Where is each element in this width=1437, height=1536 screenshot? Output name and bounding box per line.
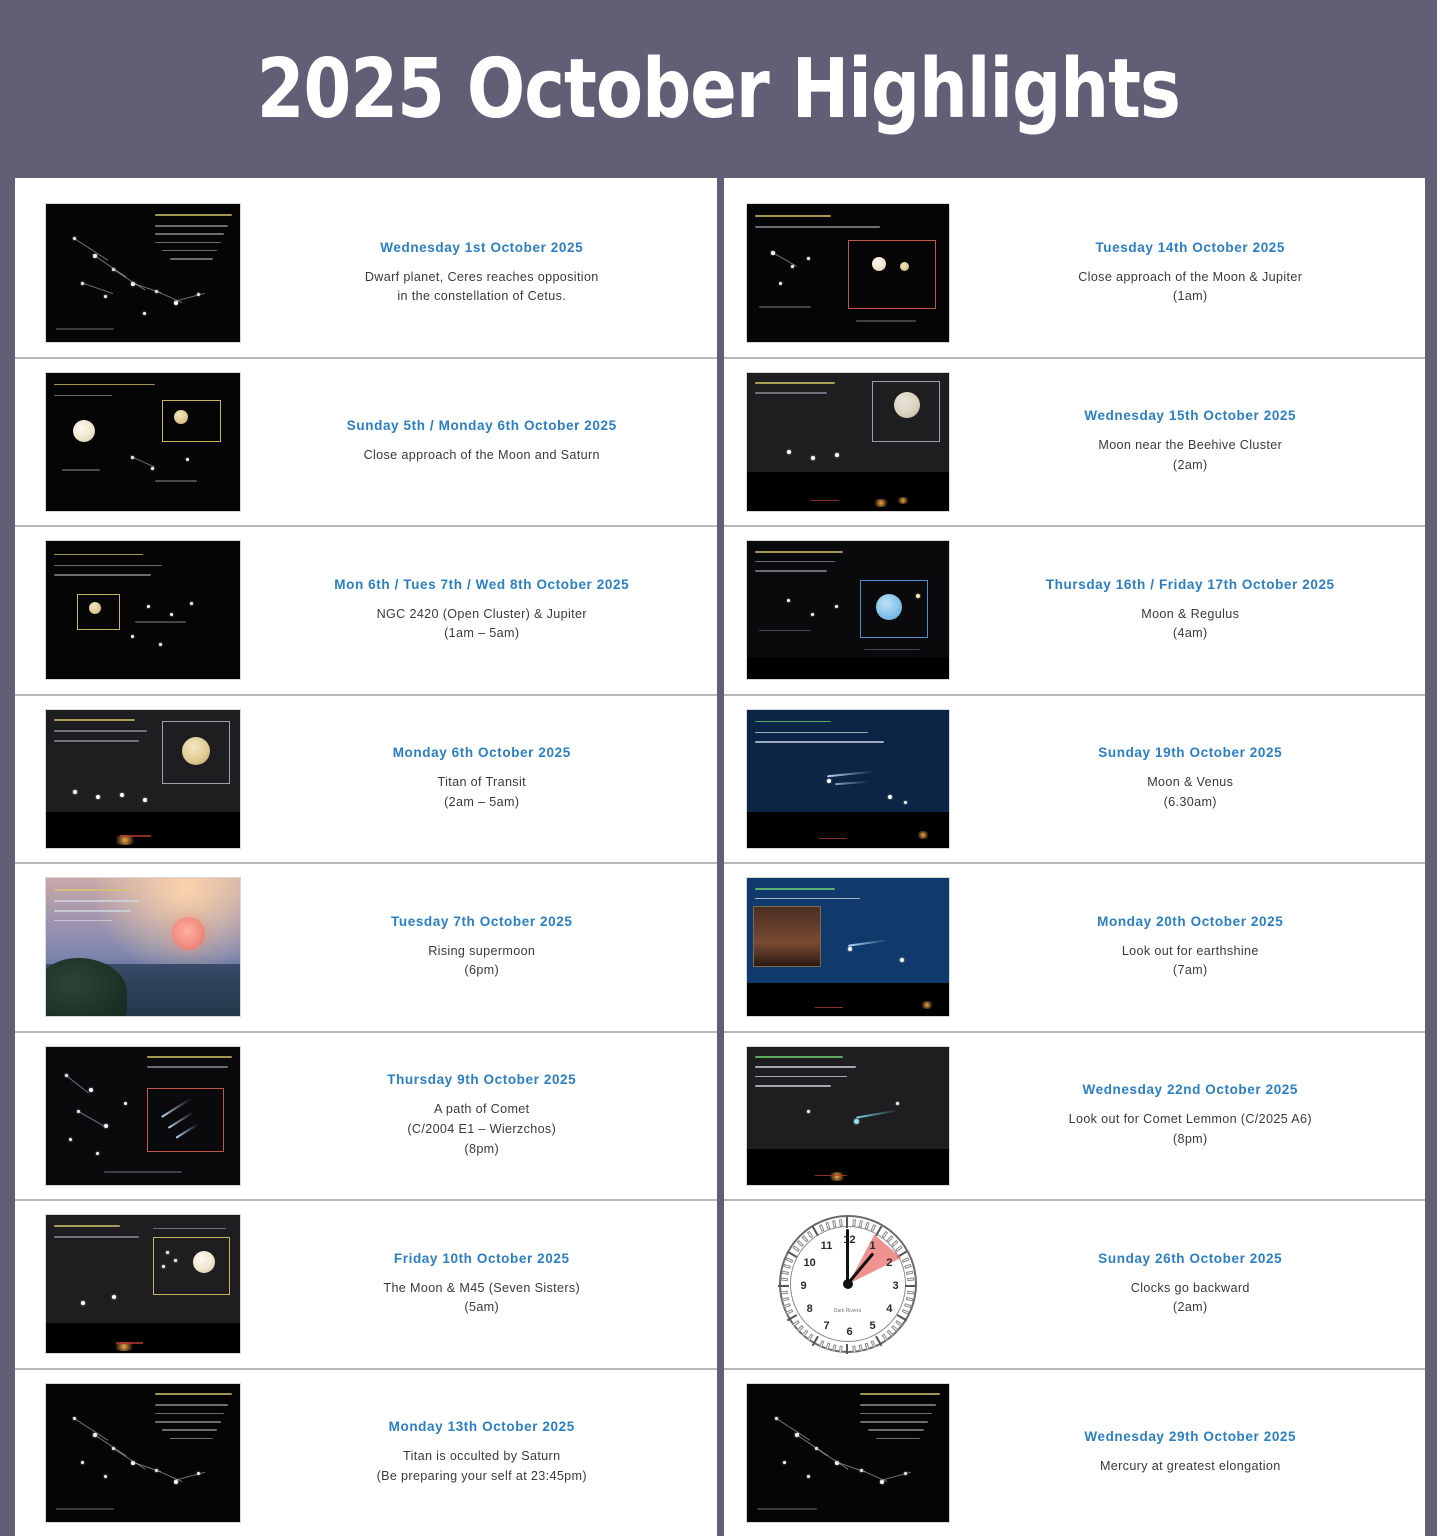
event-text-cell: Wednesday 29th October 2025 Mercury at g… xyxy=(956,1374,1426,1533)
event-row[interactable]: Wednesday 15th October 2025 Moon near th… xyxy=(724,357,1426,526)
event-description-line: NGC 2420 (Open Cluster) & Jupiter xyxy=(377,605,587,625)
clock-minute-tick xyxy=(825,1343,830,1351)
event-thumbnail-cell xyxy=(724,1037,956,1196)
event-description-line: Dwarf planet, Ceres reaches opposition xyxy=(365,268,599,288)
event-text-cell: Mon 6th / Tues 7th / Wed 8th October 202… xyxy=(247,531,717,690)
comet-lemmon-twilight-thumbnail xyxy=(746,1046,950,1186)
event-date: Monday 13th October 2025 xyxy=(389,1419,575,1434)
event-description-line: Look out for Comet Lemmon (C/2025 A6) xyxy=(1069,1110,1312,1130)
earthshine-blue-thumbnail xyxy=(746,877,950,1017)
event-date: Sunday 26th October 2025 xyxy=(1098,1251,1282,1266)
event-row[interactable]: Wednesday 1st October 2025 Dwarf planet,… xyxy=(15,190,717,357)
event-description-line: (2am – 5am) xyxy=(438,793,526,813)
comet-path-chart-thumbnail xyxy=(45,1046,241,1186)
clock-minute-tick xyxy=(882,1231,889,1238)
clock-minute-tick xyxy=(887,1235,894,1242)
event-row[interactable]: Sunday 19th October 2025 Moon & Venus (6… xyxy=(724,694,1426,863)
event-date: Wednesday 29th October 2025 xyxy=(1084,1429,1296,1444)
event-description: The Moon & M45 (Seven Sisters) (5am) xyxy=(383,1279,580,1318)
clock-numeral: 5 xyxy=(869,1320,875,1332)
moon-saturn-pair-thumbnail xyxy=(45,372,241,512)
event-text-cell: Sunday 26th October 2025 Clocks go backw… xyxy=(956,1205,1426,1364)
event-thumbnail-cell xyxy=(724,363,956,522)
event-description-line: (6pm) xyxy=(428,961,535,981)
page-title: 2025 October Highlights xyxy=(257,42,1180,137)
clock-minute-tick xyxy=(871,1340,877,1348)
event-text-cell: Thursday 9th October 2025 A path of Come… xyxy=(247,1037,717,1196)
titan-transit-skyline-thumbnail xyxy=(45,709,241,849)
event-row[interactable]: Monday 13th October 2025 Titan is occult… xyxy=(15,1368,717,1536)
clock-minute-tick xyxy=(839,1346,843,1353)
event-row[interactable]: Wednesday 22nd October 2025 Look out for… xyxy=(724,1031,1426,1200)
event-description-line: Mercury at greatest elongation xyxy=(1100,1457,1281,1477)
clock-minute-tick xyxy=(865,1222,870,1230)
moon-jupiter-chart-thumbnail xyxy=(746,203,950,343)
clock-minute-tick xyxy=(895,1246,902,1253)
event-date: Wednesday 22nd October 2025 xyxy=(1082,1082,1298,1097)
event-description: Moon & Regulus (4am) xyxy=(1141,605,1239,644)
event-thumbnail-cell: 121234567891011 Dark Riviera xyxy=(724,1205,956,1364)
clock-minute-tick xyxy=(802,1330,809,1337)
clock-minute-tick xyxy=(807,1334,814,1341)
beehive-skyline-thumbnail xyxy=(746,372,950,512)
ngc2420-jupiter-thumbnail xyxy=(45,540,241,680)
event-description-line: (5am) xyxy=(383,1298,580,1318)
event-description-line: (1am) xyxy=(1078,287,1302,307)
clock-minute-tick xyxy=(832,1345,836,1352)
event-row[interactable]: Tuesday 14th October 2025 Close approach… xyxy=(724,190,1426,357)
event-date: Sunday 5th / Monday 6th October 2025 xyxy=(347,418,617,433)
event-description-line: Moon & Venus xyxy=(1147,773,1233,793)
moon-m45-skyline-thumbnail xyxy=(45,1214,241,1354)
event-text-cell: Sunday 19th October 2025 Moon & Venus (6… xyxy=(956,700,1426,859)
event-description-line: in the constellation of Cetus. xyxy=(365,287,599,307)
star-chart-cetus-thumbnail xyxy=(45,203,241,343)
event-thumbnail-cell xyxy=(15,1205,247,1364)
event-description: Close approach of the Moon & Jupiter (1a… xyxy=(1078,268,1302,307)
event-description-line: (2am) xyxy=(1131,1298,1250,1318)
event-description-line: A path of Comet xyxy=(407,1100,556,1120)
clock-minute-tick xyxy=(895,1320,902,1327)
event-description: Rising supermoon (6pm) xyxy=(428,942,535,981)
clock-minute-tick xyxy=(839,1219,843,1226)
clock-minute-tick xyxy=(891,1240,898,1247)
clock-minute-tick xyxy=(781,1278,788,1282)
clock-minute-tick xyxy=(781,1291,788,1295)
event-row[interactable]: Sunday 5th / Monday 6th October 2025 Clo… xyxy=(15,357,717,526)
clock-minute-tick xyxy=(907,1291,914,1295)
clock-numeral: 8 xyxy=(807,1303,813,1315)
event-description-line: Look out for earthshine xyxy=(1122,942,1259,962)
event-date: Tuesday 7th October 2025 xyxy=(391,914,572,929)
supermoon-disc xyxy=(172,917,205,950)
clock-minute-tick xyxy=(859,1345,863,1352)
event-date: Mon 6th / Tues 7th / Wed 8th October 202… xyxy=(334,577,629,592)
event-row[interactable]: Monday 6th October 2025 Titan of Transit… xyxy=(15,694,717,863)
event-description: Mercury at greatest elongation xyxy=(1100,1457,1281,1477)
event-description: NGC 2420 (Open Cluster) & Jupiter (1am –… xyxy=(377,605,587,644)
clock-minute-tick xyxy=(891,1325,898,1332)
events-columns: Wednesday 1st October 2025 Dwarf planet,… xyxy=(0,178,1437,1536)
event-thumbnail-cell xyxy=(15,1374,247,1533)
event-row[interactable]: Tuesday 7th October 2025 Rising supermoo… xyxy=(15,862,717,1031)
event-description-line: Titan of Transit xyxy=(438,773,526,793)
clock-numeral: 9 xyxy=(800,1280,806,1292)
event-row[interactable]: Friday 10th October 2025 The Moon & M45 … xyxy=(15,1199,717,1368)
event-description-line: Moon near the Beehive Cluster xyxy=(1098,436,1282,456)
clock-minute-tick xyxy=(859,1220,863,1227)
event-description-line: (8pm) xyxy=(1069,1130,1312,1150)
event-description-line: Titan is occulted by Saturn xyxy=(377,1447,587,1467)
clock-hour-tick xyxy=(905,1285,916,1287)
event-description-line: Close approach of the Moon & Jupiter xyxy=(1078,268,1302,288)
event-date: Monday 6th October 2025 xyxy=(393,745,571,760)
clock-minute-tick xyxy=(865,1343,870,1351)
event-thumbnail-cell xyxy=(15,868,247,1027)
event-text-cell: Thursday 16th / Friday 17th October 2025… xyxy=(956,531,1426,690)
analogue-clock-thumbnail: 121234567891011 Dark Riviera xyxy=(746,1214,950,1354)
left-column: Wednesday 1st October 2025 Dwarf planet,… xyxy=(15,178,717,1536)
event-date: Thursday 9th October 2025 xyxy=(387,1072,576,1087)
event-text-cell: Monday 13th October 2025 Titan is occult… xyxy=(247,1374,717,1533)
clock-hour-tick xyxy=(875,1336,882,1347)
clock-hour-tick xyxy=(812,1336,819,1347)
event-text-cell: Monday 20th October 2025 Look out for ea… xyxy=(956,868,1426,1027)
event-description-line: Clocks go backward xyxy=(1131,1279,1250,1299)
clock-numeral: 4 xyxy=(886,1303,892,1315)
clock-minute-tick xyxy=(792,1320,799,1327)
clock-minute-tick xyxy=(819,1340,825,1348)
event-thumbnail-cell xyxy=(724,1374,956,1533)
event-text-cell: Friday 10th October 2025 The Moon & M45 … xyxy=(247,1205,717,1364)
clock-minute-hand xyxy=(846,1229,849,1284)
event-date: Monday 20th October 2025 xyxy=(1097,914,1283,929)
event-description-line: (Be preparing your self at 23:45pm) xyxy=(377,1467,587,1487)
event-date: Wednesday 1st October 2025 xyxy=(380,240,583,255)
clock-minute-tick xyxy=(906,1271,913,1275)
event-description-line: Rising supermoon xyxy=(428,942,535,962)
clock-minute-tick xyxy=(786,1309,794,1315)
clock-brand-label: Dark Riviera xyxy=(834,1308,862,1314)
clock-minute-tick xyxy=(852,1346,856,1353)
poster-root: 2025 October Highlights xyxy=(0,0,1437,1536)
event-description-line: The Moon & M45 (Seven Sisters) xyxy=(383,1279,580,1299)
clock-minute-tick xyxy=(902,1258,910,1264)
event-description-line: (6.30am) xyxy=(1147,793,1233,813)
right-column: Tuesday 14th October 2025 Close approach… xyxy=(724,178,1426,1536)
event-description: Dwarf planet, Ceres reaches opposition i… xyxy=(365,268,599,307)
event-thumbnail-cell xyxy=(15,531,247,690)
clock-hour-tick xyxy=(846,1217,848,1228)
poster-title-bar: 2025 October Highlights xyxy=(0,0,1437,178)
event-thumbnail-cell xyxy=(724,700,956,859)
event-description: Clocks go backward (2am) xyxy=(1131,1279,1250,1318)
event-description-line: (C/2004 E1 – Wierzchos) xyxy=(407,1120,556,1140)
event-thumbnail-cell xyxy=(724,868,956,1027)
clock-minute-tick xyxy=(825,1222,830,1230)
event-description: Moon near the Beehive Cluster (2am) xyxy=(1098,436,1282,475)
moon-regulus-inset-thumbnail xyxy=(746,540,950,680)
clock-minute-tick xyxy=(819,1224,825,1232)
event-date: Sunday 19th October 2025 xyxy=(1098,745,1282,760)
event-row[interactable]: Monday 20th October 2025 Look out for ea… xyxy=(724,862,1426,1031)
clock-numeral: 2 xyxy=(886,1257,892,1269)
event-description-line: (2am) xyxy=(1098,456,1282,476)
event-text-cell: Wednesday 15th October 2025 Moon near th… xyxy=(956,363,1426,522)
clock-minute-tick xyxy=(797,1325,804,1332)
event-description: Titan of Transit (2am – 5am) xyxy=(438,773,526,812)
clock-minute-tick xyxy=(906,1297,913,1301)
event-description: Close approach of the Moon and Saturn xyxy=(364,446,600,466)
event-date: Tuesday 14th October 2025 xyxy=(1095,240,1285,255)
event-description-line: (4am) xyxy=(1141,624,1239,644)
event-thumbnail-cell xyxy=(15,1037,247,1196)
star-chart-cetus-thumbnail xyxy=(45,1383,241,1523)
event-text-cell: Tuesday 14th October 2025 Close approach… xyxy=(956,194,1426,353)
event-thumbnail-cell xyxy=(724,531,956,690)
clock-numeral: 7 xyxy=(823,1320,829,1332)
event-description-line: (1am – 5am) xyxy=(377,624,587,644)
clock-numeral: 1 xyxy=(869,1240,875,1252)
event-description-line: (7am) xyxy=(1122,961,1259,981)
event-thumbnail-cell xyxy=(15,363,247,522)
clock-minute-tick xyxy=(871,1224,877,1232)
clock-minute-tick xyxy=(887,1330,894,1337)
event-text-cell: Tuesday 7th October 2025 Rising supermoo… xyxy=(247,868,717,1027)
clock-minute-tick xyxy=(902,1309,910,1315)
event-row[interactable]: 121234567891011 Dark Riviera Sunday 26th… xyxy=(724,1199,1426,1368)
event-text-cell: Wednesday 1st October 2025 Dwarf planet,… xyxy=(247,194,717,353)
event-text-cell: Sunday 5th / Monday 6th October 2025 Clo… xyxy=(247,363,717,522)
event-description-line: Close approach of the Moon and Saturn xyxy=(364,446,600,466)
event-description: Look out for Comet Lemmon (C/2025 A6) (8… xyxy=(1069,1110,1312,1149)
event-thumbnail-cell xyxy=(15,194,247,353)
event-description: Titan is occulted by Saturn (Be preparin… xyxy=(377,1447,587,1486)
clock-numeral: 10 xyxy=(804,1257,816,1269)
supermoon-photo-thumbnail xyxy=(45,877,241,1017)
event-row[interactable]: Mon 6th / Tues 7th / Wed 8th October 202… xyxy=(15,525,717,694)
clock-minute-tick xyxy=(832,1220,836,1227)
event-description: Moon & Venus (6.30am) xyxy=(1147,773,1233,812)
event-description-line: Moon & Regulus xyxy=(1141,605,1239,625)
event-text-cell: Wednesday 22nd October 2025 Look out for… xyxy=(956,1037,1426,1196)
clock-minute-tick xyxy=(783,1303,791,1308)
clock-minute-tick xyxy=(907,1278,914,1282)
event-row[interactable]: Wednesday 29th October 2025 Mercury at g… xyxy=(724,1368,1426,1536)
clock-hour-tick xyxy=(778,1285,789,1287)
clock-hour-tick xyxy=(846,1344,848,1354)
clock-minute-tick xyxy=(882,1334,889,1341)
clock-minute-tick xyxy=(782,1297,789,1301)
clock-numeral: 12 xyxy=(843,1234,855,1246)
clock-minute-tick xyxy=(904,1303,912,1308)
moon-venus-blue-thumbnail xyxy=(746,709,950,849)
clock-face: 121234567891011 Dark Riviera xyxy=(779,1215,917,1353)
clock-minute-tick xyxy=(782,1271,789,1275)
clock-numeral: 6 xyxy=(846,1326,852,1338)
event-thumbnail-cell xyxy=(15,700,247,859)
event-thumbnail-cell xyxy=(724,194,956,353)
event-date: Wednesday 15th October 2025 xyxy=(1084,408,1296,423)
clock-minute-tick xyxy=(783,1264,791,1269)
event-row[interactable]: Thursday 9th October 2025 A path of Come… xyxy=(15,1031,717,1200)
star-chart-cetus-thumbnail xyxy=(746,1383,950,1523)
clock-center-cap xyxy=(843,1279,853,1289)
event-description: A path of Comet (C/2004 E1 – Wierzchos) … xyxy=(407,1100,556,1159)
event-description: Look out for earthshine (7am) xyxy=(1122,942,1259,981)
event-date: Friday 10th October 2025 xyxy=(394,1251,570,1266)
clock-minute-tick xyxy=(904,1264,912,1269)
clock-numeral: 11 xyxy=(821,1240,833,1252)
event-description-line: (8pm) xyxy=(407,1140,556,1160)
event-row[interactable]: Thursday 16th / Friday 17th October 2025… xyxy=(724,525,1426,694)
event-text-cell: Monday 6th October 2025 Titan of Transit… xyxy=(247,700,717,859)
clock-minute-tick xyxy=(786,1258,794,1264)
clock-numeral: 3 xyxy=(892,1280,898,1292)
event-date: Thursday 16th / Friday 17th October 2025 xyxy=(1046,577,1335,592)
